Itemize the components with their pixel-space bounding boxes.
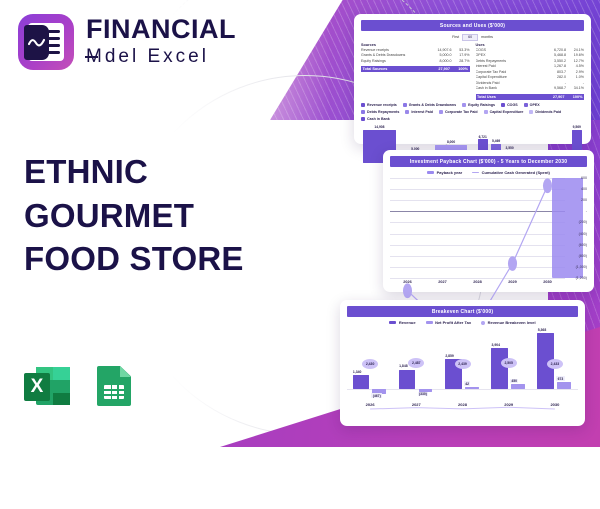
payback-y-axis: 600400200-(200)(400)(600)(800)(1,000)(1,…	[565, 178, 587, 278]
breakeven-level-line	[347, 329, 578, 509]
financial-model-excel-logo-icon	[18, 14, 74, 70]
legend-swatch	[501, 103, 505, 107]
legend-label: Cash in Bank	[367, 117, 390, 121]
bar-value-label: 5,469	[492, 139, 500, 143]
legend-swatch	[426, 321, 433, 324]
period-label-right: months	[481, 35, 493, 39]
y-tick-label: (400)	[579, 232, 587, 236]
legend-swatch	[403, 103, 407, 107]
legend-label: Corporate Tax Paid	[445, 110, 478, 114]
brand-name-line2-b: del Excel	[105, 46, 209, 67]
legend-item: Interest Paid	[405, 110, 433, 114]
sources-uses-legend: Revenue receiptsGrants & Debts Drawdowns…	[361, 103, 584, 121]
legend-item: Cash in Bank	[361, 117, 390, 121]
data-point	[508, 256, 517, 271]
bar-value-label: 9,569	[573, 125, 581, 129]
headline-line-1: ETHNIC	[24, 150, 294, 194]
legend-item: COGS	[501, 103, 518, 107]
wave-chart-icon	[24, 25, 49, 60]
breakeven-node: 2,430	[362, 359, 378, 369]
card-breakeven: Breakeven Chart ($'000) RevenueNet Profi…	[340, 300, 585, 426]
period-value[interactable]: 60	[462, 34, 478, 41]
headline-line-3: FOOD STORE	[24, 237, 294, 281]
table-row: Equity Raisings8,000.028.7%	[361, 59, 470, 65]
breakeven-plot: 1,340(467)2,4301,848(330)2,4872,859422,4…	[347, 329, 578, 407]
legend-swatch	[439, 110, 443, 114]
breakeven-legend: RevenueNet Profit After TaxRevenue Break…	[347, 320, 578, 325]
y-tick-label: (1,000)	[576, 265, 587, 269]
microsoft-excel-icon: X	[24, 363, 70, 409]
legend-label: COGS	[507, 103, 518, 107]
legend-item: Equity Raisings	[462, 103, 495, 107]
legend-item: Grants & Debts Drawdowns	[403, 103, 456, 107]
brand-name-line2: Mdel Excel	[86, 45, 236, 69]
y-tick-label: 400	[581, 187, 587, 191]
legend-swatch	[405, 110, 409, 114]
uses-total-pct: 100%	[565, 95, 583, 99]
payback-title: Investment Payback Chart ($'000) - 5 Yea…	[390, 156, 587, 167]
sources-uses-period-control[interactable]: First 60 months	[361, 34, 584, 41]
legend-item: Revenue Breakeven level	[481, 320, 536, 325]
payback-plot: 600400200-(200)(400)(600)(800)(1,000)(1,…	[390, 178, 587, 278]
legend-item: OPEX	[524, 103, 540, 107]
legend-label: Interest Paid	[411, 110, 433, 114]
legend-item: Debts Repayments	[361, 110, 399, 114]
card-sources-and-uses: Sources and Uses ($'000) First 60 months…	[354, 14, 591, 144]
breakeven-title: Breakeven Chart ($'000)	[347, 306, 578, 317]
legend-label: Capital Expenditure	[490, 110, 524, 114]
uses-total-row: Total Uses 27,907 100%	[476, 94, 585, 100]
legend-label: Payback year	[437, 170, 463, 175]
legend-line	[472, 172, 479, 174]
legend-swatch	[524, 103, 528, 107]
legend-dot	[481, 321, 485, 325]
legend-label: Equity Raisings	[468, 103, 495, 107]
legend-item: Dividends Paid	[529, 110, 561, 114]
period-label-left: First	[452, 35, 459, 39]
table-row: Cash in Bank9,568.734.1%	[476, 86, 585, 92]
sources-total-label: Total Sources	[363, 67, 425, 71]
y-tick-label: (600)	[579, 243, 587, 247]
legend-item: Payback year	[427, 170, 462, 175]
y-tick-label: (800)	[579, 254, 587, 258]
legend-swatch	[389, 321, 396, 324]
uses-header: Uses	[476, 43, 585, 47]
uses-total-value: 27,907	[539, 95, 565, 99]
bar-value-label: 6,721	[479, 135, 487, 139]
sources-rows: Revenue receipts14,907.653.3%Grants & De…	[361, 48, 470, 65]
breakeven-node: 2,433	[547, 359, 563, 369]
legend-swatch	[484, 110, 488, 114]
legend-swatch	[462, 103, 466, 107]
y-tick-label: (200)	[579, 220, 587, 224]
google-sheets-icon	[92, 363, 138, 409]
data-point	[403, 283, 412, 298]
sources-column: Sources Revenue receipts14,907.653.3%Gra…	[361, 43, 470, 100]
legend-item: Corporate Tax Paid	[439, 110, 478, 114]
sources-total-row: Total Sources 27,907 100%	[361, 66, 470, 72]
breakeven-node: 2,505	[501, 358, 517, 368]
y-tick-label: 200	[581, 198, 587, 202]
legend-swatch	[361, 110, 365, 114]
legend-label: Debts Repayments	[367, 110, 399, 114]
legend-item: Revenue	[389, 320, 415, 325]
legend-label: Cumulative Cash Generated (Spent)	[482, 170, 550, 175]
legend-label: Dividends Paid	[535, 110, 561, 114]
sources-uses-title: Sources and Uses ($'000)	[361, 20, 584, 31]
brand-name-line1: FINANCIAL	[86, 16, 236, 43]
legend-label: Net Profit After Tax	[435, 320, 471, 325]
excel-icon-glyph: X	[24, 373, 50, 401]
legend-item: Revenue receipts	[361, 103, 397, 107]
uses-rows: COGS6,720.824.1%OPEX5,468.819.6%Debts Re…	[476, 48, 585, 93]
legend-label: Grants & Debts Drawdowns	[409, 103, 456, 107]
legend-swatch	[529, 110, 533, 114]
legend-label: Revenue Breakeven level	[488, 320, 536, 325]
brand-logo: FINANCIAL Mdel Excel	[18, 14, 236, 70]
legend-swatch	[427, 171, 434, 174]
legend-swatch	[361, 103, 365, 107]
page-title: ETHNIC GOURMET FOOD STORE	[24, 150, 294, 281]
data-point	[543, 178, 552, 193]
legend-label: OPEX	[530, 103, 540, 107]
y-tick-label: 600	[581, 176, 587, 180]
sources-total-pct: 100%	[450, 67, 468, 71]
app-format-icons: X	[24, 363, 138, 409]
uses-column: Uses COGS6,720.824.1%OPEX5,468.819.6%Deb…	[476, 43, 585, 100]
slide-canvas: FINANCIAL Mdel Excel ETHNIC GOURMET FOOD…	[0, 0, 600, 447]
y-tick-label: -	[586, 209, 587, 213]
payback-legend: Payback yearCumulative Cash Generated (S…	[390, 170, 587, 175]
card-investment-payback: Investment Payback Chart ($'000) - 5 Yea…	[383, 150, 594, 292]
bar-value-label: 14,908	[374, 125, 384, 129]
sources-total-value: 27,907	[424, 67, 450, 71]
legend-label: Revenue receipts	[367, 103, 397, 107]
legend-item: Cumulative Cash Generated (Spent)	[472, 170, 550, 175]
y-tick-label: (1,200)	[576, 276, 587, 280]
breakeven-node: 2,439	[455, 359, 471, 369]
headline-line-2: GOURMET	[24, 194, 294, 238]
legend-label: Revenue	[399, 320, 416, 325]
legend-item: Net Profit After Tax	[426, 320, 472, 325]
bar-value-label: 8,000	[447, 140, 455, 144]
legend-item: Capital Expenditure	[484, 110, 524, 114]
sources-header: Sources	[361, 43, 470, 47]
legend-swatch	[361, 117, 365, 121]
uses-total-label: Total Uses	[477, 95, 539, 99]
